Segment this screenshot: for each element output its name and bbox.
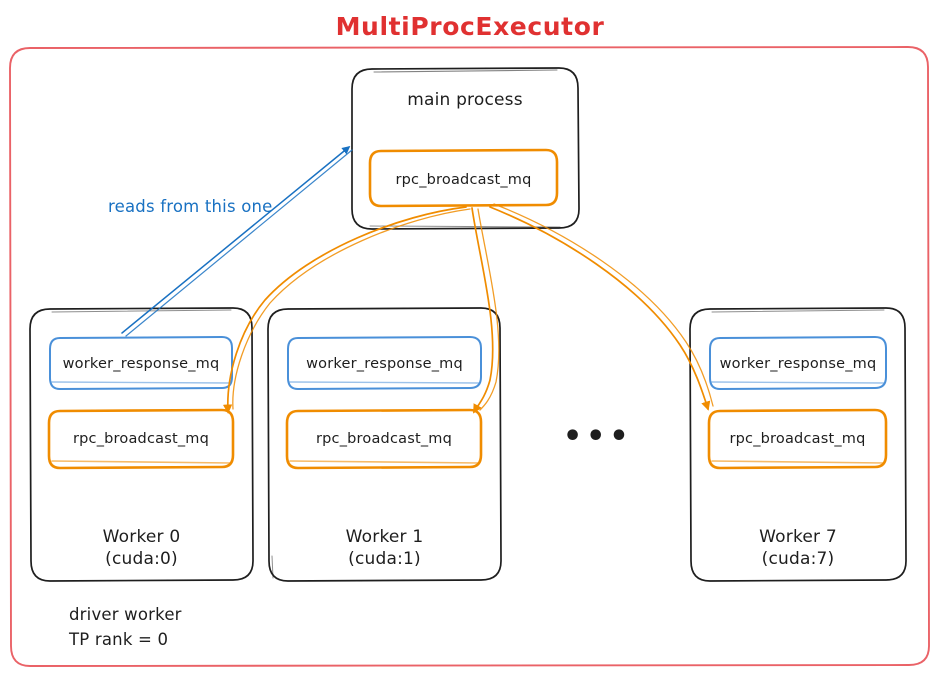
main-rpc-broadcast-label: rpc_broadcast_mq: [370, 171, 557, 189]
worker-1-name: Worker 1: [268, 527, 501, 548]
worker-0-name: Worker 0: [30, 527, 253, 548]
driver-worker-note-line2: TP rank = 0: [69, 630, 168, 651]
worker-0-response-label: worker_response_mq: [50, 355, 232, 373]
worker-7-broadcast-label: rpc_broadcast_mq: [709, 430, 886, 448]
worker-1-response-label: worker_response_mq: [288, 355, 481, 373]
worker-7-response-label: worker_response_mq: [710, 355, 886, 373]
diagram-canvas: MultiProcExecutor main process rpc_broad…: [0, 0, 940, 680]
main-process-label: main process: [352, 90, 578, 111]
worker-7-device: (cuda:7): [690, 549, 906, 570]
worker-1-device: (cuda:1): [268, 549, 501, 570]
page-title: MultiProcExecutor: [0, 11, 940, 42]
worker-7-name: Worker 7: [690, 527, 906, 548]
worker-0-broadcast-label: rpc_broadcast_mq: [49, 430, 233, 448]
ellipsis-indicator: •••: [563, 418, 633, 456]
broadcast-arrow-worker-7: [490, 204, 713, 409]
reads-from-note: reads from this one: [108, 197, 273, 218]
worker-0-device: (cuda:0): [30, 549, 253, 570]
worker-1-broadcast-label: rpc_broadcast_mq: [287, 430, 481, 448]
driver-worker-note-line1: driver worker: [69, 605, 182, 626]
